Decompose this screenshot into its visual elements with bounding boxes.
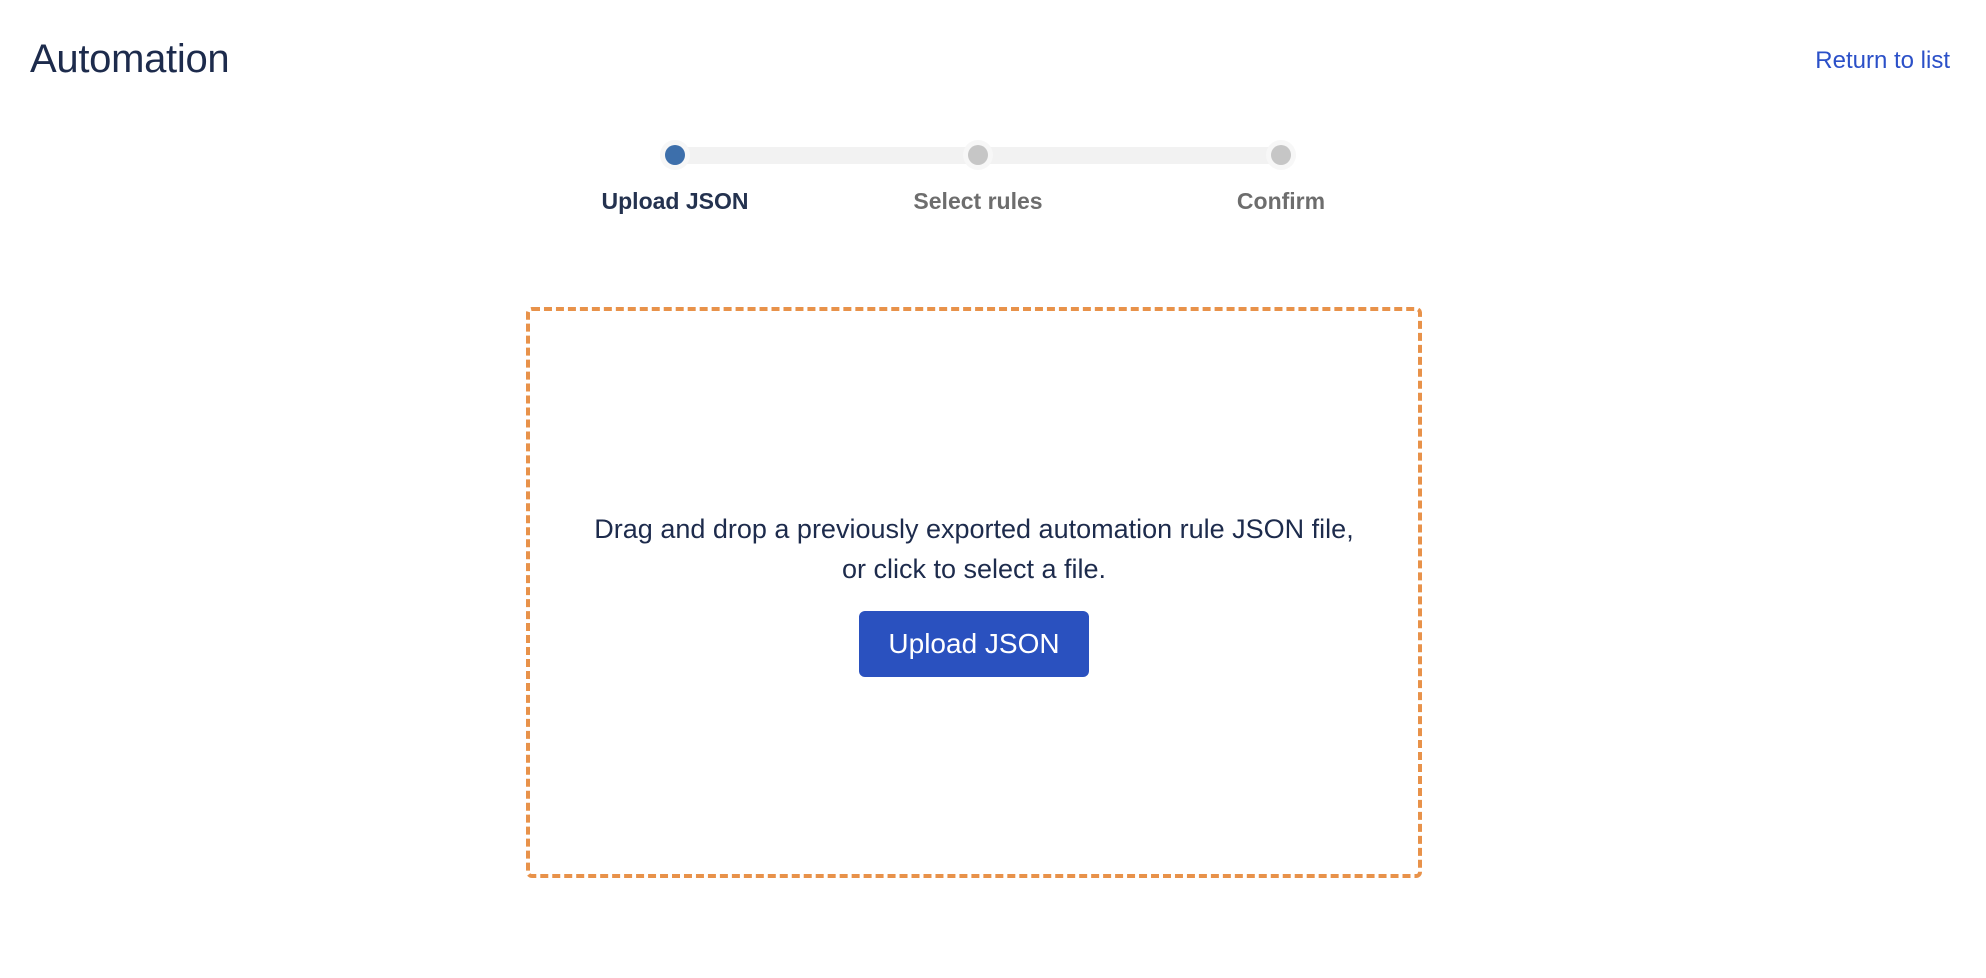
dropzone-instruction-line-1: Drag and drop a previously exported auto…: [594, 514, 1353, 544]
step-dot-icon: [665, 145, 685, 165]
import-stepper: [660, 140, 1296, 170]
json-file-dropzone[interactable]: Drag and drop a previously exported auto…: [526, 307, 1422, 878]
step-node-upload-json[interactable]: [660, 140, 690, 170]
step-node-select-rules[interactable]: [963, 140, 993, 170]
page-title: Automation: [30, 36, 229, 82]
upload-json-button[interactable]: Upload JSON: [859, 611, 1088, 677]
page-header: Automation Return to list: [0, 0, 1986, 110]
step-label-confirm: Confirm: [1237, 188, 1325, 215]
automation-import-page: Automation Return to list Upload JSON Se…: [0, 0, 1986, 978]
step-dot-icon: [1271, 145, 1291, 165]
stepper-labels: Upload JSON Select rules Confirm: [560, 188, 1400, 222]
step-node-confirm[interactable]: [1266, 140, 1296, 170]
step-dot-icon: [968, 145, 988, 165]
step-label-upload-json: Upload JSON: [602, 188, 749, 215]
step-label-select-rules: Select rules: [913, 188, 1042, 215]
dropzone-instruction-text: Drag and drop a previously exported auto…: [584, 509, 1363, 589]
return-to-list-link[interactable]: Return to list: [1815, 47, 1950, 75]
dropzone-instruction-line-2: or click to select a file.: [842, 554, 1106, 584]
